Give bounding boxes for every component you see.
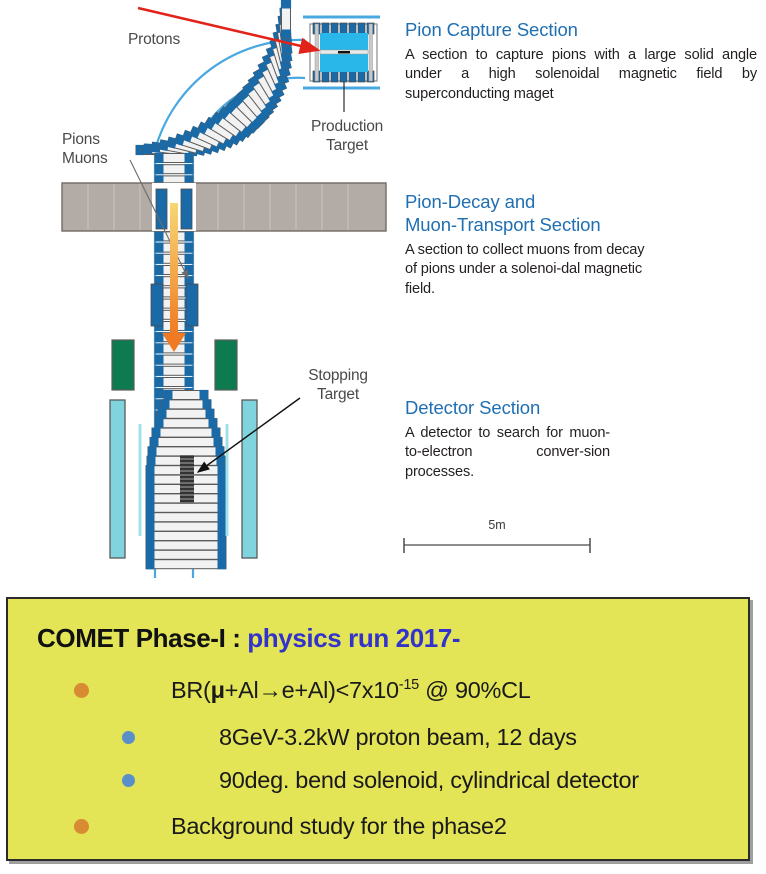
scale-bar: 5m [402, 518, 592, 558]
section-title-line2: Muon-Transport Section [405, 213, 757, 236]
section-title-line1: Pion-Decay and [405, 191, 535, 212]
summary-bullet-text-3: 90deg. bend solenoid, cylindrical detect… [219, 767, 639, 794]
slide-root: Protons Pions Muons Production Target St… [0, 0, 766, 874]
section-title-detector: Detector Section [405, 396, 757, 419]
label-production-target-line1: Production [305, 117, 389, 136]
summary-bullet-row-2: 8GeV-3.2kW proton beam, 12 days [122, 724, 577, 751]
summary-title-accent: physics run 2017- [247, 623, 460, 653]
summary-title-main: COMET Phase-I : [37, 623, 247, 653]
bullet-marker-blue-icon [122, 731, 135, 744]
label-muons: Muons [62, 149, 108, 168]
section-body-pion-decay: A section to collect muons from decay of… [405, 241, 645, 299]
label-stopping-target-line2: Target [290, 385, 386, 404]
section-title-pion-decay: Pion-Decay and Muon-Transport Section [405, 190, 757, 236]
summary-bullet-row-3: 90deg. bend solenoid, cylindrical detect… [122, 767, 639, 794]
summary-bullet-text-2: 8GeV-3.2kW proton beam, 12 days [219, 724, 577, 751]
section-pion-decay-muon-transport: Pion-Decay and Muon-Transport Section A … [405, 190, 757, 299]
shield-wall [62, 183, 386, 231]
section-detector: Detector Section A detector to search fo… [405, 396, 757, 482]
summary-title: COMET Phase-I : physics run 2017- [37, 623, 460, 654]
production-target-assembly [303, 17, 380, 112]
section-body-pion-capture: A section to capture pions with a large … [405, 46, 757, 104]
summary-bullet-text-1: BR(μ+Al→e+Al)<7x10-15 @ 90%CL [171, 677, 531, 704]
label-stopping-target-line1: Stopping [290, 366, 386, 385]
section-body-detector: A detector to search for muon-to-electro… [405, 424, 610, 482]
summary-bullet-row-1: BR(μ+Al→e+Al)<7x10-15 @ 90%CL [74, 677, 531, 704]
summary-box: COMET Phase-I : physics run 2017- BR(μ+A… [6, 597, 750, 861]
bullet-marker-blue-icon [122, 774, 135, 787]
bullet-marker-orange-icon [74, 683, 89, 698]
scale-bar-graphic [402, 536, 592, 560]
diagram-svg [0, 0, 400, 580]
section-title-pion-capture: Pion Capture Section [405, 18, 757, 41]
summary-bullet-row-4: Background study for the phase2 [74, 813, 507, 840]
scale-bar-label: 5m [402, 518, 592, 532]
label-production-target: Production Target [305, 117, 389, 155]
label-pions-muons: Pions Muons [62, 130, 108, 168]
stopping-target [180, 455, 194, 503]
label-stopping-target: Stopping Target [290, 366, 386, 404]
section-pion-capture: Pion Capture Section A section to captur… [405, 18, 757, 104]
bullet-marker-orange-icon [74, 819, 89, 834]
label-production-target-line2: Target [305, 136, 389, 155]
label-pions: Pions [62, 130, 108, 149]
summary-bullet-text-4: Background study for the phase2 [171, 813, 507, 840]
comet-layout-diagram: Protons Pions Muons Production Target St… [0, 0, 400, 580]
label-protons: Protons [128, 30, 180, 49]
